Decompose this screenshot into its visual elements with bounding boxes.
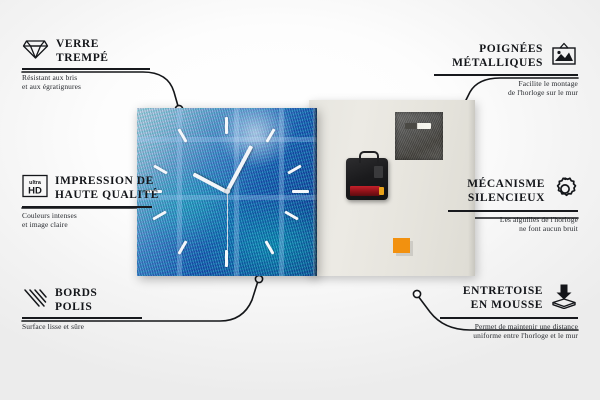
feature-title-line2: MÉTALLIQUES	[452, 57, 543, 71]
hour-hand	[193, 172, 228, 193]
divider	[448, 210, 578, 212]
clock-face	[137, 108, 317, 276]
diamond-icon	[22, 38, 49, 65]
feature-verre-trempe[interactable]: VERRE TREMPÉ Résistant aux bris et aux é…	[22, 38, 160, 92]
hanger-loop	[359, 151, 379, 163]
feature-desc: Les aiguilles de l'horloge ne font aucun…	[448, 215, 578, 234]
feature-title: MÉCANISME	[467, 178, 545, 192]
feature-title: BORDS	[55, 287, 97, 301]
feature-title: IMPRESSION DE	[55, 175, 159, 189]
movement-chip	[374, 166, 383, 178]
feature-mecanisme-silencieux[interactable]: MÉCANISME SILENCIEUX Les aiguilles de l'…	[448, 176, 578, 234]
center-pin	[225, 189, 230, 194]
feature-title-line2: POLIS	[55, 301, 97, 315]
feature-title-line2: EN MOUSSE	[463, 299, 543, 313]
divider	[440, 317, 578, 319]
metal-hanger-plate	[395, 112, 443, 160]
feature-desc: Permet de maintenir une distance uniform…	[440, 322, 578, 341]
divider	[22, 206, 152, 208]
divider	[434, 74, 578, 76]
press-down-foam-icon	[550, 283, 578, 314]
ultra-hd-icon: ultra HD	[22, 174, 48, 203]
gear-icon	[552, 176, 578, 207]
polished-edges-icon	[22, 287, 48, 314]
hotspot-dot-entretoise	[413, 290, 420, 297]
orange-foam-spacer	[393, 238, 410, 253]
battery	[350, 186, 380, 196]
feature-title: VERRE	[56, 38, 109, 52]
feature-impression-haute-qualite[interactable]: ultra HD IMPRESSION DE HAUTE QUALITÉ Cou…	[22, 174, 162, 230]
hotspot-dot-bords-polis	[255, 275, 262, 282]
second-hand	[227, 192, 228, 250]
feature-title: ENTRETOISE	[463, 285, 543, 299]
divider	[22, 68, 150, 70]
hanger-keyhole-slot	[405, 123, 431, 129]
feature-desc: Facilite le montage de l'horloge sur le …	[434, 79, 578, 98]
wall-mount-frame-icon	[550, 42, 578, 71]
feature-desc: Couleurs intenses et image claire	[22, 211, 162, 230]
feature-title-line2: HAUTE QUALITÉ	[55, 189, 159, 203]
feature-desc: Surface lisse et sûre	[22, 322, 152, 332]
feature-bords-polis[interactable]: BORDS POLIS Surface lisse et sûre	[22, 287, 152, 331]
feature-title-line2: SILENCIEUX	[467, 192, 545, 206]
svg-text:HD: HD	[28, 186, 42, 197]
feature-desc: Résistant aux bris et aux égratignures	[22, 73, 160, 92]
infographic-canvas: VERRE TREMPÉ Résistant aux bris et aux é…	[0, 0, 600, 400]
feature-poignees-metalliques[interactable]: POIGNÉES MÉTALLIQUES Facilite le montage…	[434, 42, 578, 98]
feature-title-line2: TREMPÉ	[56, 52, 109, 66]
product-photo	[137, 100, 475, 276]
divider	[22, 317, 142, 319]
quartz-movement	[346, 158, 388, 200]
feature-entretoise-en-mousse[interactable]: ENTRETOISE EN MOUSSE Permet de maintenir…	[440, 283, 578, 341]
feature-title: POIGNÉES	[452, 43, 543, 57]
